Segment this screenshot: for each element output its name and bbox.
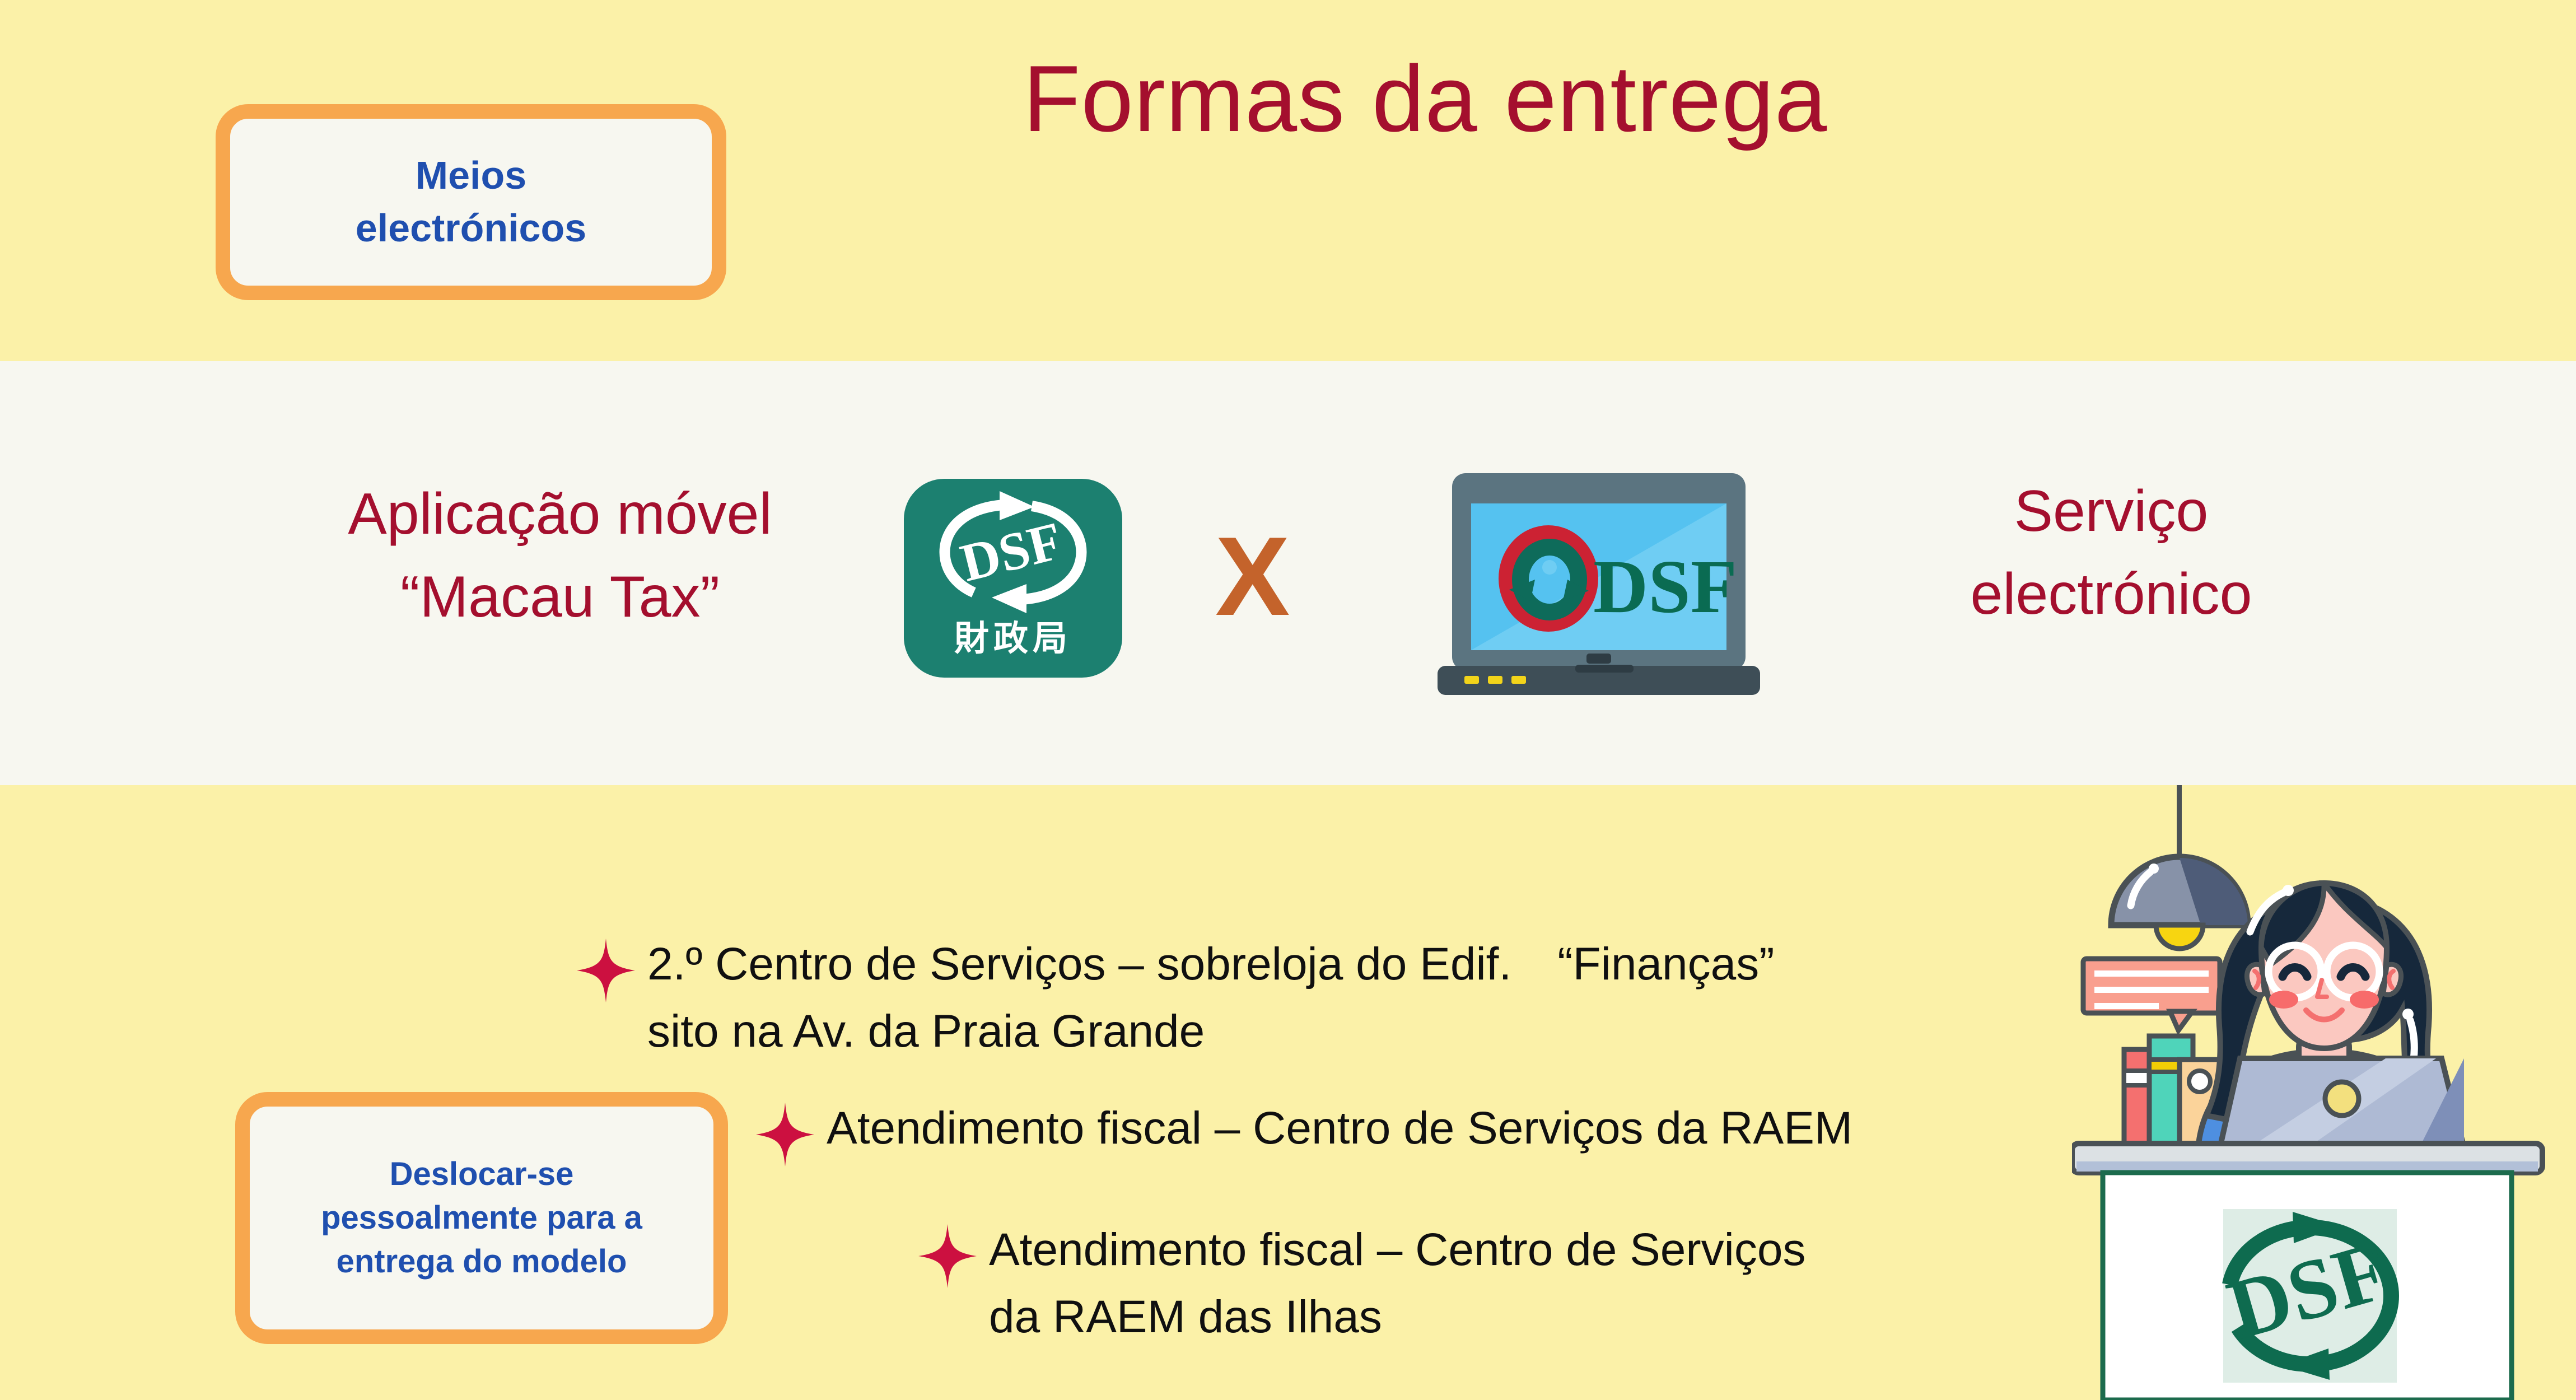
dsf-app-icon[interactable]: DSF 財政局 [904,479,1122,678]
electronic-service-line1: Serviço [1831,470,2391,553]
sparkle-icon [755,1102,815,1168]
list-item: Atendimento fiscal – Centro de Serviços … [755,1095,1852,1168]
pendant-lamp-icon [2111,785,2248,949]
woman-at-desk-illustration: DSF [2072,785,2576,1400]
in-person-line1: Deslocar-se [390,1152,574,1196]
dsf-app-caption: 財政局 [954,610,1072,660]
list-item: Atendimento fiscal – Centro de Serviços … [917,1216,1806,1350]
svg-text:DSF: DSF [955,510,1068,593]
bullet-3-line1: Atendimento fiscal – Centro de Serviços [989,1216,1806,1284]
bullet-2-line1: Atendimento fiscal – Centro de Serviços … [827,1095,1852,1162]
laptop-icon [2220,1058,2464,1148]
slide-canvas: Formas da entrega Meios electrónicos Apl… [0,0,2576,1400]
versus-x-symbol: X [1215,521,1290,633]
list-item-text: Atendimento fiscal – Centro de Serviços … [989,1216,1806,1350]
list-item-text: 2.º Centro de Serviços – sobreloja do Ed… [647,931,1775,1065]
mobile-app-line1: Aplicação móvel [241,473,879,556]
mobile-app-label: Aplicação móvel “Macau Tax” [241,473,879,638]
in-person-callout[interactable]: Deslocar-se pessoalmente para a entrega … [235,1092,728,1344]
sparkle-icon [576,937,636,1004]
page-title: Formas da entrega [907,45,1943,153]
dsf-circular-arrows-icon: DSF [929,491,1097,613]
sparkle-icon [917,1223,978,1289]
mobile-app-line2: “Macau Tax” [241,556,879,639]
bullet-1-line1: 2.º Centro de Serviços – sobreloja do Ed… [647,931,1775,998]
list-item-text: Atendimento fiscal – Centro de Serviços … [827,1095,1852,1162]
list-item: 2.º Centro de Serviços – sobreloja do Ed… [576,931,1775,1065]
electronic-service-label: Serviço electrónico [1831,470,2391,636]
in-person-line2: pessoalmente para a [321,1196,642,1240]
electronic-means-callout[interactable]: Meios electrónicos [216,104,726,300]
electronic-service-line2: electrónico [1831,553,2391,636]
in-person-line3: entrega do modelo [337,1240,627,1284]
edsf-laptop-icon[interactable]: DSF [1425,473,1772,703]
electronic-means-line1: Meios [416,150,526,202]
speech-bubble-icon [2083,959,2220,1030]
bullet-3-line2: da RAEM das Ilhas [989,1284,1806,1351]
bullet-1-line2: sito na Av. da Praia Grande [647,998,1775,1065]
svg-text:DSF: DSF [1593,545,1737,629]
electronic-means-line2: electrónicos [356,202,586,255]
desk-dsf-logo: DSF [2218,1209,2398,1383]
